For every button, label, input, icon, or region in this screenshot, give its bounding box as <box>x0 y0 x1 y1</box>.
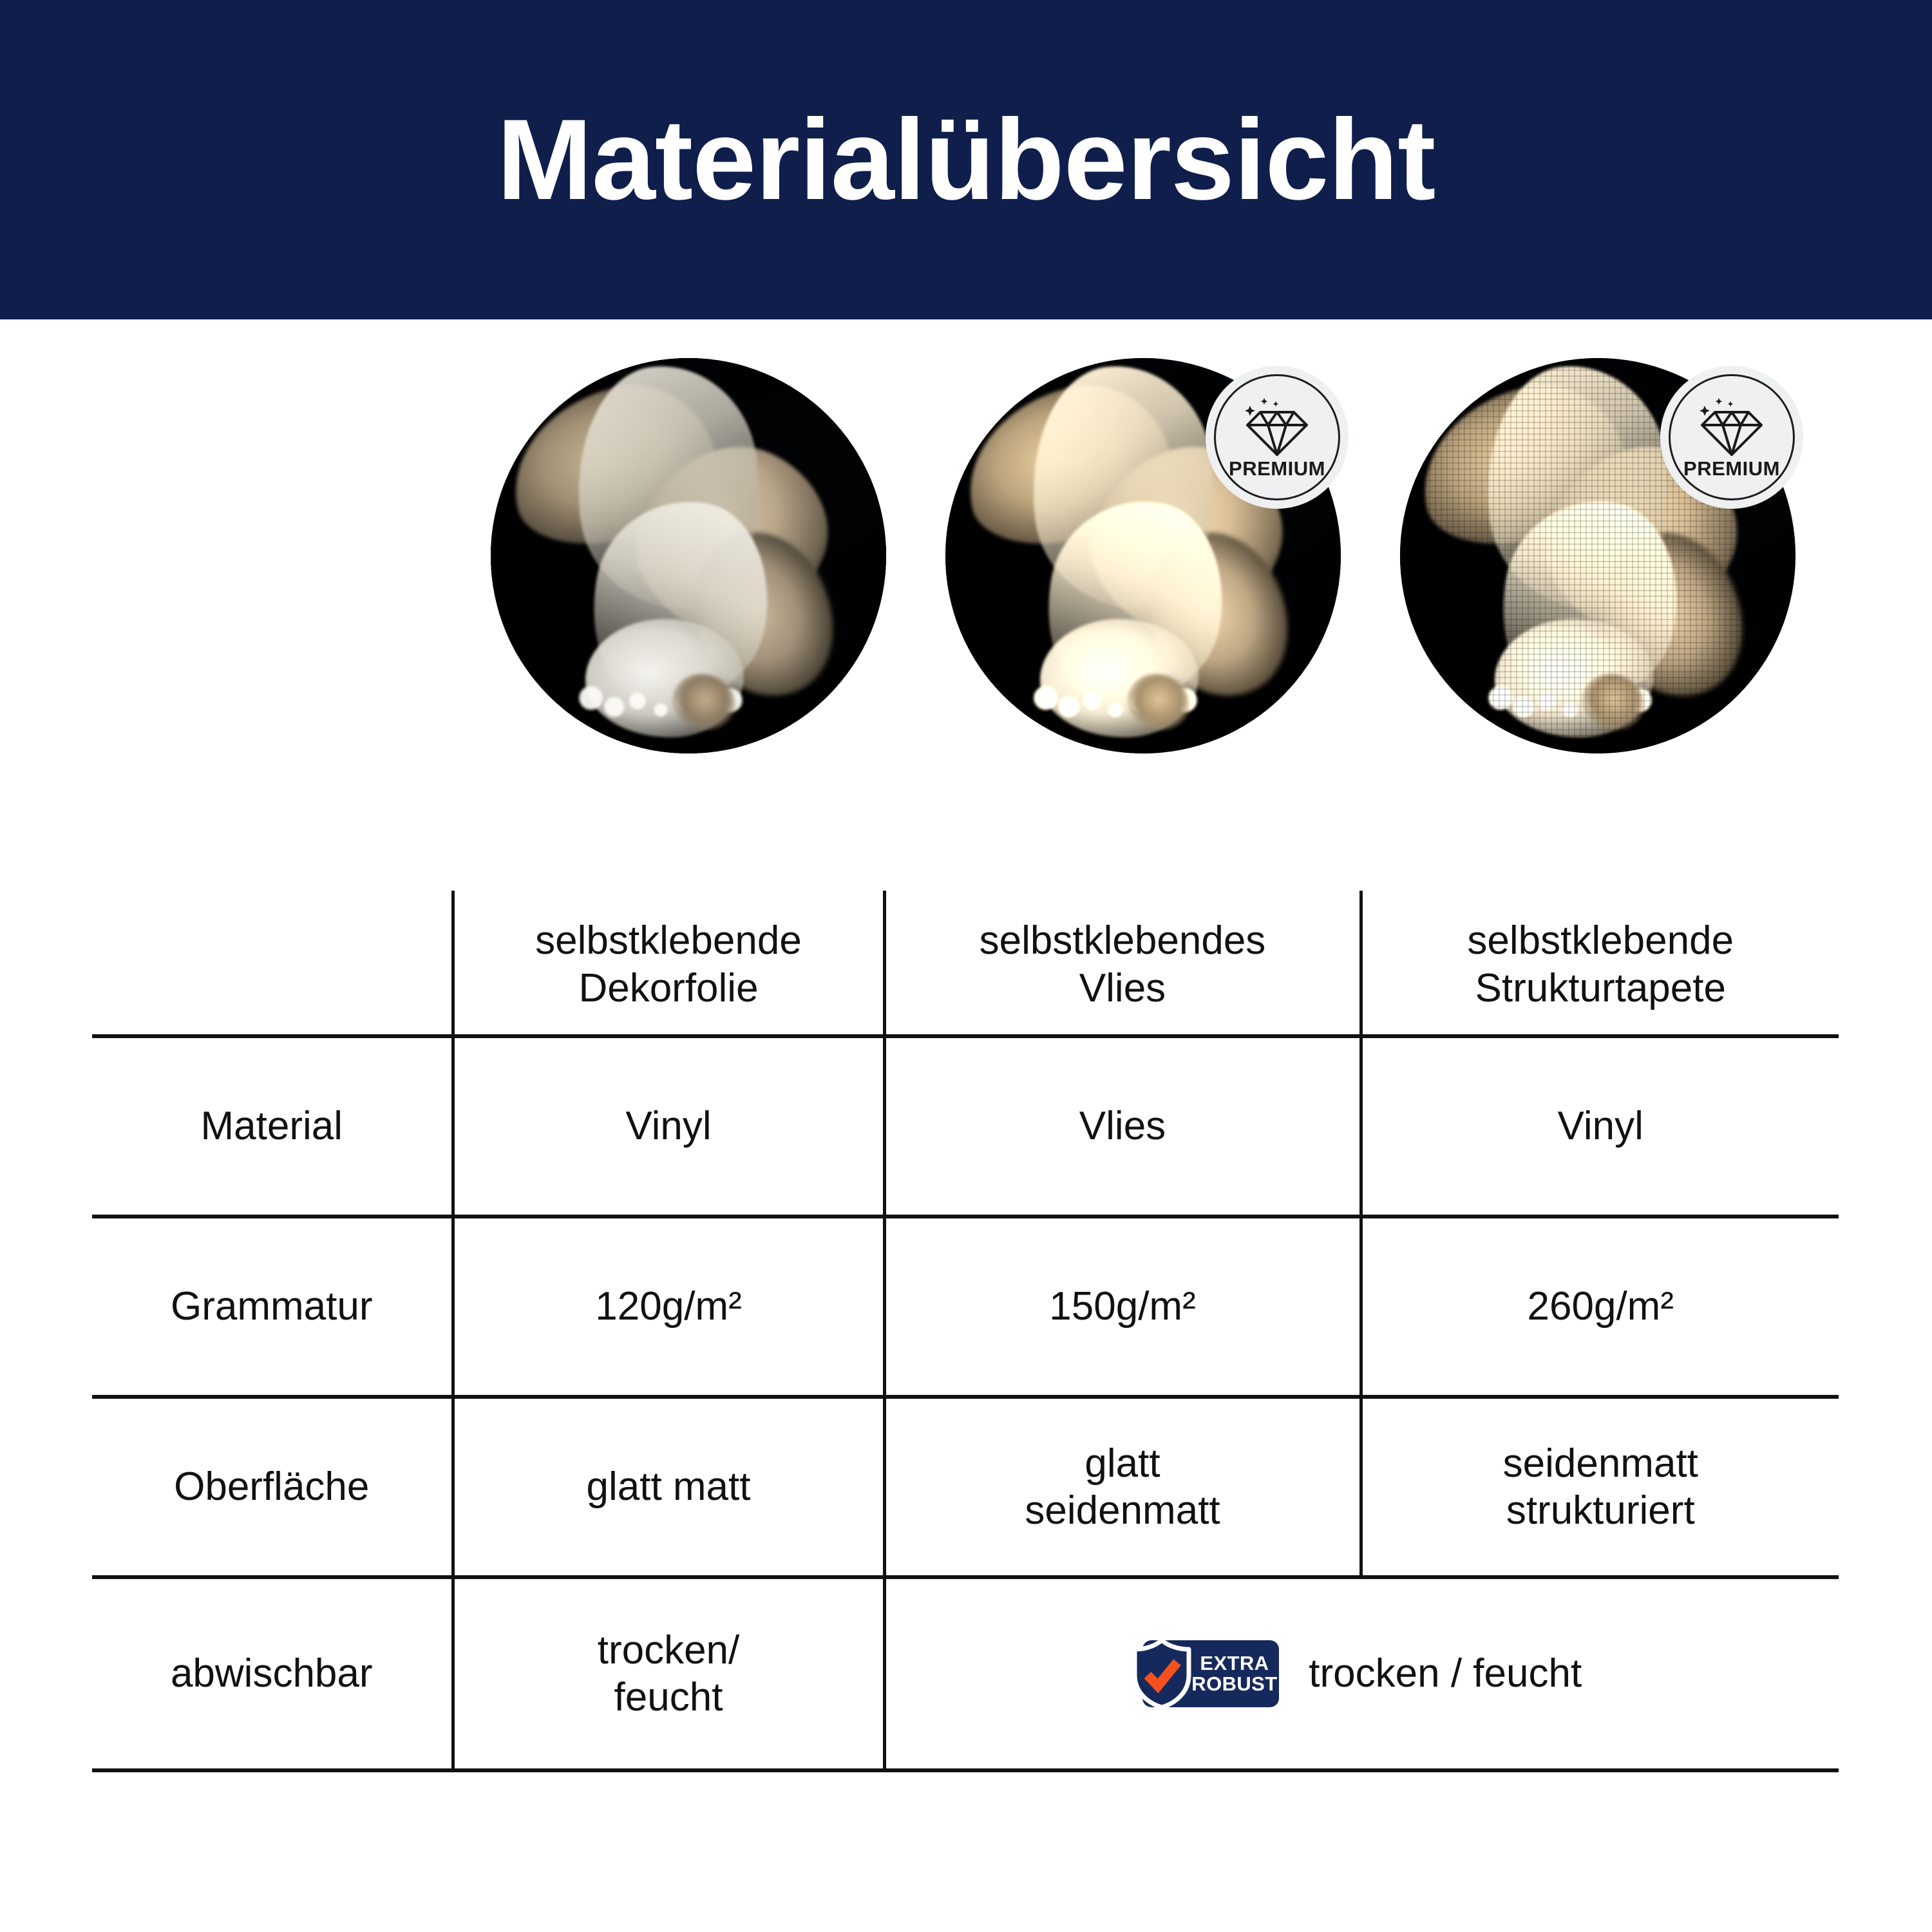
premium-badge-inner: PREMIUM <box>1214 374 1340 500</box>
premium-badge-label: PREMIUM <box>1229 459 1325 478</box>
cell-grammatur-dekorfolie: 120g/m² <box>453 1217 884 1397</box>
column-header-line1: selbstklebende <box>461 917 876 964</box>
cell-line1: trocken/ <box>461 1627 876 1674</box>
cell-abwischbar-text: trocken / feucht <box>1309 1650 1582 1697</box>
cell-material-vlies: Vlies <box>884 1036 1361 1217</box>
column-header-line2: Dekorfolie <box>461 965 876 1012</box>
shield-check-icon <box>1131 1638 1193 1710</box>
premium-badge: PREMIUM <box>1660 366 1803 509</box>
material-comparison-table: selbstklebende Dekorfolie selbstklebende… <box>92 891 1839 1772</box>
diamond-icon <box>1698 397 1765 456</box>
page-header: Materialübersicht <box>0 0 1932 319</box>
table-row: Grammatur 120g/m² 150g/m² 260g/m² <box>92 1217 1839 1397</box>
product-image-vlies[interactable]: PREMIUM <box>945 358 1341 753</box>
cell-abwischbar-dekorfolie: trocken/ feucht <box>453 1577 884 1770</box>
column-header-vlies: selbstklebendes Vlies <box>884 891 1361 1036</box>
page-title: Materialübersicht <box>497 102 1435 217</box>
cell-line2: strukturiert <box>1369 1487 1833 1534</box>
product-image-strukturtapete[interactable]: PREMIUM <box>1400 358 1795 753</box>
table-row: abwischbar trocken/ feucht <box>92 1577 1839 1770</box>
cell-grammatur-strukturtapete: 260g/m² <box>1361 1217 1839 1397</box>
extra-robust-line1: EXTRA <box>1191 1653 1277 1674</box>
premium-badge-label: PREMIUM <box>1683 459 1780 478</box>
column-header-dekorfolie: selbstklebende Dekorfolie <box>453 891 884 1036</box>
extra-robust-line2: ROBUST <box>1191 1674 1277 1694</box>
material-overview-page: Materialübersicht <box>0 0 1932 1932</box>
cell-abwischbar-merged: EXTRA ROBUST trocken / feucht <box>884 1577 1839 1770</box>
cell-material-strukturtapete: Vinyl <box>1361 1036 1839 1217</box>
row-label-material: Material <box>92 1036 453 1217</box>
premium-badge-inner: PREMIUM <box>1669 374 1795 500</box>
product-image-dekorfolie[interactable] <box>491 358 886 753</box>
column-header-line2: Strukturtapete <box>1369 965 1833 1012</box>
cell-line2: feucht <box>461 1674 876 1721</box>
underwater-figure-illustration <box>491 358 886 753</box>
row-label-abwischbar: abwischbar <box>92 1577 453 1770</box>
premium-badge: PREMIUM <box>1206 366 1349 509</box>
column-header-line1: selbstklebendes <box>893 917 1353 964</box>
cell-oberflaeche-dekorfolie: glatt matt <box>453 1397 884 1577</box>
row-label-oberflaeche: Oberfläche <box>92 1397 453 1577</box>
cell-line1: glatt <box>893 1440 1353 1487</box>
column-header-line1: selbstklebende <box>1369 917 1833 964</box>
diamond-icon <box>1244 397 1311 456</box>
cell-material-dekorfolie: Vinyl <box>453 1036 884 1217</box>
cell-oberflaeche-vlies: glatt seidenmatt <box>884 1397 1361 1577</box>
cell-grammatur-vlies: 150g/m² <box>884 1217 1361 1397</box>
row-label-grammatur: Grammatur <box>92 1217 453 1397</box>
table-row: Material Vinyl Vlies Vinyl <box>92 1036 1839 1217</box>
table-corner-cell <box>92 891 453 1036</box>
table-row: Oberfläche glatt matt glatt seidenmatt s… <box>92 1397 1839 1577</box>
column-header-strukturtapete: selbstklebende Strukturtapete <box>1361 891 1839 1036</box>
cell-oberflaeche-strukturtapete: seidenmatt strukturiert <box>1361 1397 1839 1577</box>
extra-robust-badge: EXTRA ROBUST <box>1142 1640 1279 1707</box>
table-header-row: selbstklebende Dekorfolie selbstklebende… <box>92 891 1839 1036</box>
circle-image <box>491 358 886 753</box>
cell-line2: seidenmatt <box>893 1487 1353 1534</box>
product-image-row: PREMIUM <box>0 358 1932 757</box>
cell-line1: seidenmatt <box>1369 1440 1833 1487</box>
column-header-line2: Vlies <box>893 965 1353 1012</box>
